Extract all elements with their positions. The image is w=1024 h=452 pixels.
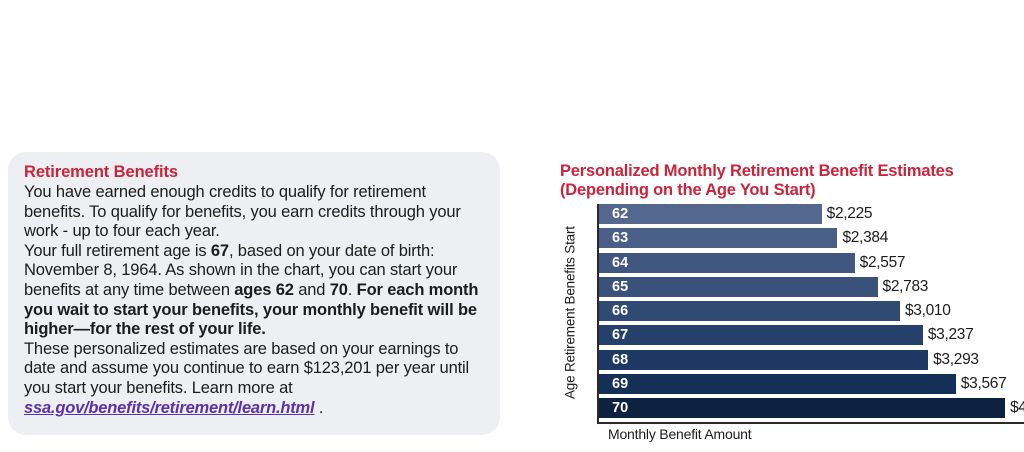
bar-category-label: 62 bbox=[599, 204, 628, 224]
credits-text: You have earned enough credits to qualif… bbox=[24, 183, 461, 240]
bar-category-label: 70 bbox=[599, 398, 628, 418]
bar-row: 64$2,557 bbox=[599, 253, 1024, 273]
bar-row: 66$3,010 bbox=[599, 301, 1024, 321]
bar-value-label: $3,237 bbox=[923, 326, 974, 344]
bar-age-67[interactable]: 67 bbox=[599, 325, 923, 345]
bar-value-label: $2,557 bbox=[855, 254, 906, 272]
fra-text-period: . bbox=[348, 281, 357, 299]
bar-row: 62$2,225 bbox=[599, 204, 1024, 224]
x-axis-label: Monthly Benefit Amount bbox=[608, 426, 751, 442]
bar-value-label: $4,060 bbox=[1005, 399, 1024, 417]
benefits-paragraph-estimates: These personalized estimates are based o… bbox=[24, 340, 486, 418]
bar-row: 63$2,384 bbox=[599, 228, 1024, 248]
bar-category-label: 64 bbox=[599, 253, 628, 273]
estimates-text-end: . bbox=[314, 399, 323, 417]
bar-value-label: $3,567 bbox=[956, 375, 1007, 393]
bar-row: 67$3,237 bbox=[599, 325, 1024, 345]
fra-text-and: and bbox=[294, 281, 330, 299]
bar-category-label: 67 bbox=[599, 325, 628, 345]
retirement-benefits-panel: Retirement Benefits You have earned enou… bbox=[8, 152, 500, 435]
latest-age-value: 70 bbox=[330, 281, 348, 299]
bar-row: 69$3,567 bbox=[599, 374, 1024, 394]
chart-title-line1: Personalized Monthly Retirement Benefit … bbox=[560, 162, 954, 180]
bar-value-label: $2,384 bbox=[837, 229, 888, 247]
chart-plot-region: Age Retirement Benefits Start 62$2,22563… bbox=[560, 204, 1024, 436]
chart-title-line2: (Depending on the Age You Start) bbox=[560, 181, 815, 199]
bar-age-63[interactable]: 63 bbox=[599, 228, 837, 248]
benefits-paragraph-full-retirement-age: Your full retirement age is 67, based on… bbox=[24, 242, 486, 340]
bar-category-label: 66 bbox=[599, 301, 628, 321]
benefit-estimates-chart: Personalized Monthly Retirement Benefit … bbox=[560, 162, 1024, 452]
bar-value-label: $3,293 bbox=[928, 351, 979, 369]
page-title: Retirement Benefits bbox=[24, 162, 486, 182]
bar-row: 65$2,783 bbox=[599, 277, 1024, 297]
benefits-paragraph-credits: You have earned enough credits to qualif… bbox=[24, 183, 486, 242]
earliest-age-value: ages 62 bbox=[234, 281, 294, 299]
chart-title: Personalized Monthly Retirement Benefit … bbox=[560, 162, 1024, 200]
fra-text-lead: Your full retirement age is bbox=[24, 242, 211, 260]
bar-category-label: 65 bbox=[599, 277, 628, 297]
bar-age-66[interactable]: 66 bbox=[599, 301, 900, 321]
bar-category-label: 68 bbox=[599, 350, 628, 370]
bar-age-62[interactable]: 62 bbox=[599, 204, 822, 224]
bar-value-label: $2,225 bbox=[822, 205, 873, 223]
full-retirement-age-value: 67 bbox=[211, 242, 229, 260]
bar-age-69[interactable]: 69 bbox=[599, 374, 956, 394]
bar-value-label: $2,783 bbox=[878, 278, 929, 296]
bar-age-70[interactable]: 70 bbox=[599, 398, 1005, 418]
ssa-learn-more-link[interactable]: ssa.gov/benefits/retirement/learn.html bbox=[24, 399, 314, 417]
bar-age-68[interactable]: 68 bbox=[599, 350, 928, 370]
bar-value-label: $3,010 bbox=[900, 302, 951, 320]
bar-row: 68$3,293 bbox=[599, 350, 1024, 370]
bar-category-label: 69 bbox=[599, 374, 628, 394]
bar-age-65[interactable]: 65 bbox=[599, 277, 878, 297]
x-axis-line bbox=[597, 422, 1024, 424]
estimates-text: These personalized estimates are based o… bbox=[24, 340, 469, 397]
bar-category-label: 63 bbox=[599, 228, 628, 248]
bar-age-64[interactable]: 64 bbox=[599, 253, 855, 273]
y-axis-label: Age Retirement Benefits Start bbox=[560, 204, 580, 422]
bar-row: 70$4,060 bbox=[599, 398, 1024, 418]
bar-series: 62$2,22563$2,38464$2,55765$2,78366$3,010… bbox=[599, 204, 1024, 422]
